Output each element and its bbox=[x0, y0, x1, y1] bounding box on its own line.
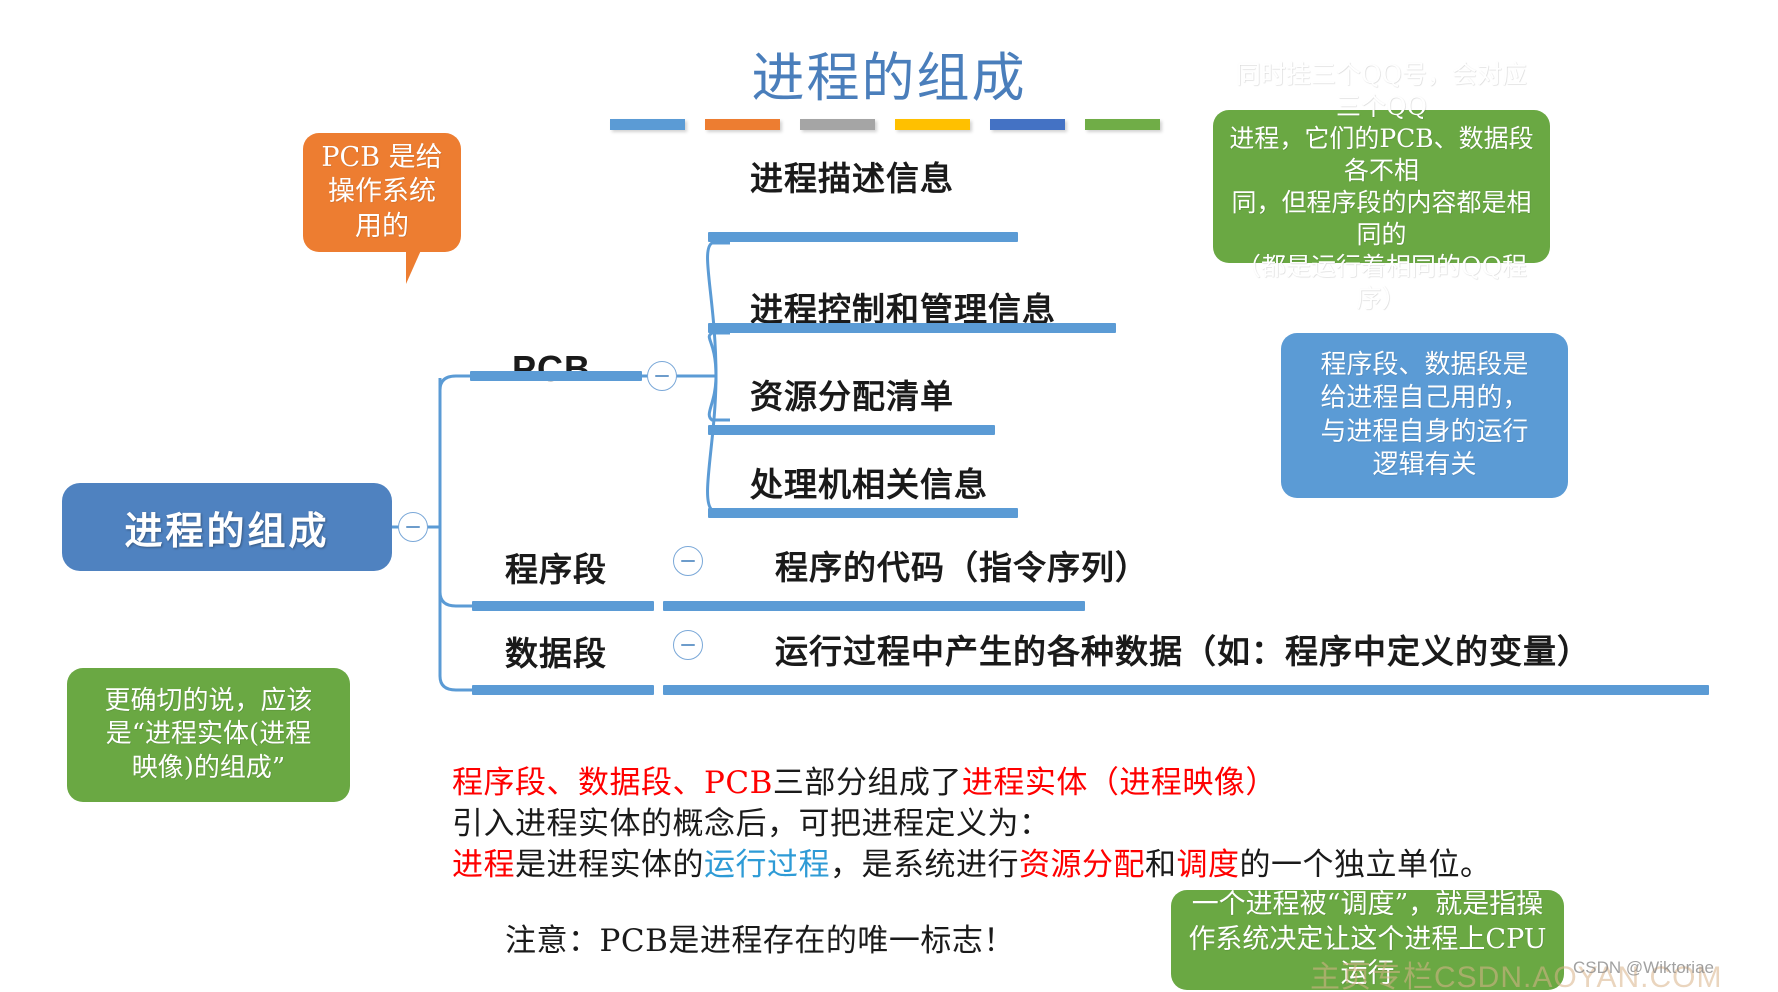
callout-process-entity-line-1: 是“进程实体(进程 bbox=[104, 718, 312, 751]
bottom-text-line-1-seg-2: 进程实体（进程映像） bbox=[962, 765, 1277, 801]
callout-qq-example-line-0: 同时挂三个QQ号，会对应三个QQ bbox=[1225, 59, 1538, 123]
callout-pcb-purpose-tail bbox=[406, 248, 440, 284]
bottom-text-line-3-seg-1: 是进程实体的 bbox=[515, 847, 704, 883]
node-bar-pcb bbox=[470, 371, 642, 381]
accent-bar-gray bbox=[800, 119, 875, 130]
callout-qq-example: 同时挂三个QQ号，会对应三个QQ 进程，它们的PCB、数据段各不相 同，但程序段… bbox=[1213, 110, 1550, 263]
callout-pcb-purpose: PCB 是给 操作系统 用的 bbox=[303, 133, 461, 252]
callout-qq-example-line-3: （都是运行着相同的QQ程序） bbox=[1225, 251, 1538, 315]
callout-pcb-purpose-line-0: PCB 是给 bbox=[321, 141, 442, 176]
bottom-text-line-3-seg-7: 的一个独立单位。 bbox=[1240, 847, 1492, 883]
accent-bar-orange bbox=[705, 119, 780, 130]
node-bar-data-segment-child-0 bbox=[663, 685, 1709, 695]
bottom-text-line-3-seg-2: 运行过程 bbox=[704, 847, 830, 883]
node-bar-data-segment bbox=[472, 685, 654, 695]
bottom-text-line-4: 注意：PCB是进程存在的唯一标志！ bbox=[505, 915, 1015, 960]
callout-process-entity-line-0: 更确切的说，应该 bbox=[104, 685, 312, 718]
node-bar-program-segment-child-0 bbox=[663, 601, 1085, 611]
pcb-collapse-toggle-icon[interactable] bbox=[647, 361, 677, 391]
bottom-text-line-3-seg-6: 调度 bbox=[1177, 847, 1240, 883]
bottom-text-line-1: 程序段、数据段、PCB三部分组成了进程实体（进程映像） bbox=[452, 757, 1277, 802]
data-segment-collapse-toggle-icon[interactable] bbox=[673, 630, 703, 660]
bottom-text-line-1-seg-0: 程序段、数据段、PCB bbox=[452, 765, 773, 801]
root-collapse-toggle-icon[interactable] bbox=[398, 512, 428, 542]
bottom-text-line-3-seg-0: 进程 bbox=[452, 847, 515, 883]
node-label-program-segment-child-0[interactable]: 程序的代码（指令序列） bbox=[775, 541, 1149, 589]
watermark-corner: CSDN @Wiktoriae bbox=[1573, 958, 1714, 978]
node-label-pcb-child-3[interactable]: 处理机相关信息 bbox=[750, 458, 988, 506]
node-label-pcb-child-0[interactable]: 进程描述信息 bbox=[750, 152, 954, 200]
callout-scheduling-line-0: 一个进程被“调度”，就是指操 bbox=[1181, 888, 1554, 923]
bottom-text-line-2: 引入进程实体的概念后，可把进程定义为： bbox=[452, 798, 1051, 843]
bottom-text-line-3-seg-5: 和 bbox=[1145, 847, 1177, 883]
accent-bar-darkblue bbox=[990, 119, 1065, 130]
callout-segments-purpose-line-1: 给进程自己用的， bbox=[1320, 382, 1528, 415]
callout-pcb-purpose-line-1: 操作系统 bbox=[321, 175, 442, 210]
bottom-text-line-3-seg-4: 资源分配 bbox=[1019, 847, 1145, 883]
callout-process-entity: 更确切的说，应该 是“进程实体(进程 映像)的组成” bbox=[67, 668, 350, 802]
program-segment-collapse-toggle-icon[interactable] bbox=[673, 546, 703, 576]
bottom-text-line-3: 进程是进程实体的运行过程，是系统进行资源分配和调度的一个独立单位。 bbox=[452, 839, 1492, 884]
bottom-text-line-2-seg-0: 引入进程实体的概念后，可把进程定义为： bbox=[452, 806, 1051, 842]
accent-bar-yellow bbox=[895, 119, 970, 130]
callout-segments-purpose-line-2: 与进程自身的运行 bbox=[1320, 416, 1528, 449]
accent-bar-green bbox=[1085, 119, 1160, 130]
node-label-program-segment[interactable]: 程序段 bbox=[505, 543, 607, 591]
node-bar-pcb-child-2 bbox=[708, 425, 995, 435]
node-label-pcb[interactable]: PCB bbox=[512, 348, 591, 390]
node-label-data-segment-child-0[interactable]: 运行过程中产生的各种数据（如：程序中定义的变量） bbox=[775, 625, 1591, 673]
node-bar-program-segment bbox=[472, 601, 654, 611]
accent-bar-blue bbox=[610, 119, 685, 130]
node-bar-pcb-child-0 bbox=[708, 232, 1018, 242]
bottom-text-line-1-seg-1: 三部分组成了 bbox=[773, 765, 962, 801]
bottom-text-line-4-seg-0: 注意：PCB是进程存在的唯一标志！ bbox=[505, 923, 1015, 959]
callout-qq-example-line-2: 同，但程序段的内容都是相同的 bbox=[1225, 187, 1538, 251]
callout-segments-purpose-line-0: 程序段、数据段是 bbox=[1320, 349, 1528, 382]
callout-segments-purpose-line-3: 逻辑有关 bbox=[1320, 449, 1528, 482]
callout-process-entity-line-2: 映像)的组成” bbox=[104, 752, 312, 785]
node-label-pcb-child-2[interactable]: 资源分配清单 bbox=[750, 370, 954, 418]
bottom-text-line-3-seg-3: ，是系统进行 bbox=[830, 847, 1019, 883]
callout-qq-example-line-1: 进程，它们的PCB、数据段各不相 bbox=[1225, 123, 1538, 187]
node-bar-pcb-child-1 bbox=[708, 323, 1116, 333]
mindmap-root-node[interactable]: 进程的组成 bbox=[62, 483, 392, 571]
callout-pcb-purpose-line-2: 用的 bbox=[321, 210, 442, 245]
title-accent-bars bbox=[610, 119, 1160, 130]
slide-canvas: 进程的组成 进程的组成 PCB 进程描述信息 进程 bbox=[0, 0, 1778, 992]
node-label-data-segment[interactable]: 数据段 bbox=[505, 627, 607, 675]
node-bar-pcb-child-3 bbox=[708, 508, 1018, 518]
mindmap-root-label: 进程的组成 bbox=[124, 500, 329, 555]
callout-segments-purpose: 程序段、数据段是 给进程自己用的， 与进程自身的运行 逻辑有关 bbox=[1281, 333, 1568, 498]
